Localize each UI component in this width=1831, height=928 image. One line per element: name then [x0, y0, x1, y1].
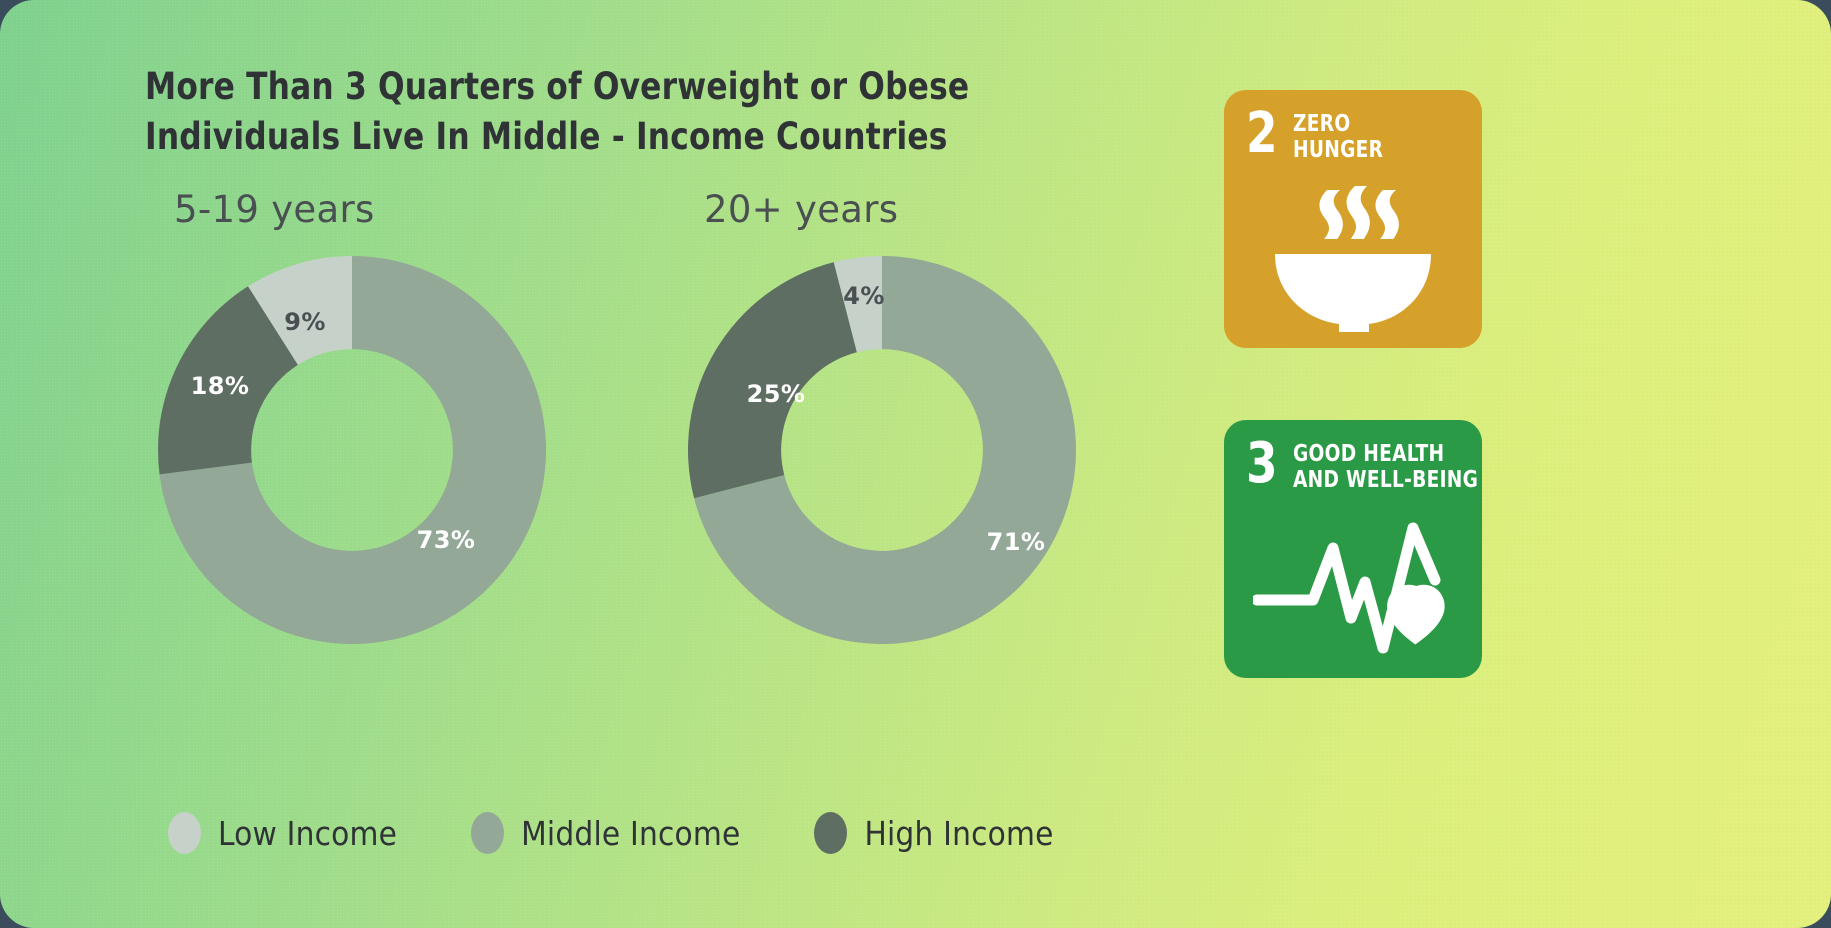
sdg-2-number: 2	[1246, 108, 1278, 160]
chart-legend: Low Income Middle Income High Income	[168, 812, 1054, 854]
slice-label-0-0: 73%	[417, 526, 476, 554]
sdg-2-title-line-1: ZERO	[1293, 111, 1383, 137]
legend-swatch-low-income	[168, 812, 201, 854]
legend-item-middle-income[interactable]: Middle Income	[471, 812, 740, 854]
sdg-3-number: 3	[1246, 438, 1278, 490]
legend-swatch-high-income	[814, 812, 847, 854]
donut-svg-0	[158, 256, 546, 644]
slice-label-0-1: 18%	[191, 372, 250, 400]
legend-label-high-income: High Income	[864, 814, 1053, 853]
legend-item-low-income[interactable]: Low Income	[168, 812, 397, 854]
page-title-line-2: Individuals Live In Middle - Income Coun…	[145, 112, 1085, 162]
page-title: More Than 3 Quarters of Overweight or Ob…	[145, 62, 1085, 162]
sdg-3-title-line-2: AND WELL-BEING	[1293, 467, 1478, 493]
donut-wrap-1: 71% 25% 4%	[688, 256, 1076, 644]
sdg-3-header: 3 GOOD HEALTH AND WELL-BEING	[1246, 438, 1470, 493]
infographic-card: More Than 3 Quarters of Overweight or Ob…	[0, 0, 1831, 928]
chart-title-1: 20+ years	[704, 188, 1076, 234]
donut-slices-1	[688, 256, 1076, 644]
sdg-2-header: 2 ZERO HUNGER	[1246, 108, 1470, 163]
donut-chart-5-19-years: 5-19 years 73% 18% 9%	[158, 188, 546, 644]
donut-chart-20-plus-years: 20+ years 71% 25% 4%	[688, 188, 1076, 644]
slice-label-0-2: 9%	[284, 308, 326, 336]
sdg-2-title: ZERO HUNGER	[1293, 108, 1383, 163]
sdg-badge-3-good-health-and-well-being[interactable]: 3 GOOD HEALTH AND WELL-BEING	[1224, 420, 1482, 678]
donut-svg-1	[688, 256, 1076, 644]
slice-label-1-2: 4%	[843, 282, 885, 310]
legend-item-high-income[interactable]: High Income	[814, 812, 1053, 854]
sdg-3-title: GOOD HEALTH AND WELL-BEING	[1293, 438, 1478, 493]
legend-label-low-income: Low Income	[218, 814, 397, 853]
chart-title-0: 5-19 years	[174, 188, 546, 234]
sdg-3-title-line-1: GOOD HEALTH	[1293, 441, 1478, 467]
heartbeat-heart-icon	[1224, 522, 1482, 664]
donut-wrap-0: 73% 18% 9%	[158, 256, 546, 644]
sdg-2-title-line-2: HUNGER	[1293, 137, 1383, 163]
legend-swatch-middle-income	[471, 812, 504, 854]
steaming-bowl-icon	[1224, 182, 1482, 334]
legend-label-middle-income: Middle Income	[521, 814, 740, 853]
slice-label-1-0: 71%	[987, 528, 1046, 556]
sdg-badge-2-zero-hunger[interactable]: 2 ZERO HUNGER	[1224, 90, 1482, 348]
page-title-line-1: More Than 3 Quarters of Overweight or Ob…	[145, 62, 1085, 112]
donut-slices-0	[158, 256, 546, 644]
slice-label-1-1: 25%	[747, 380, 806, 408]
